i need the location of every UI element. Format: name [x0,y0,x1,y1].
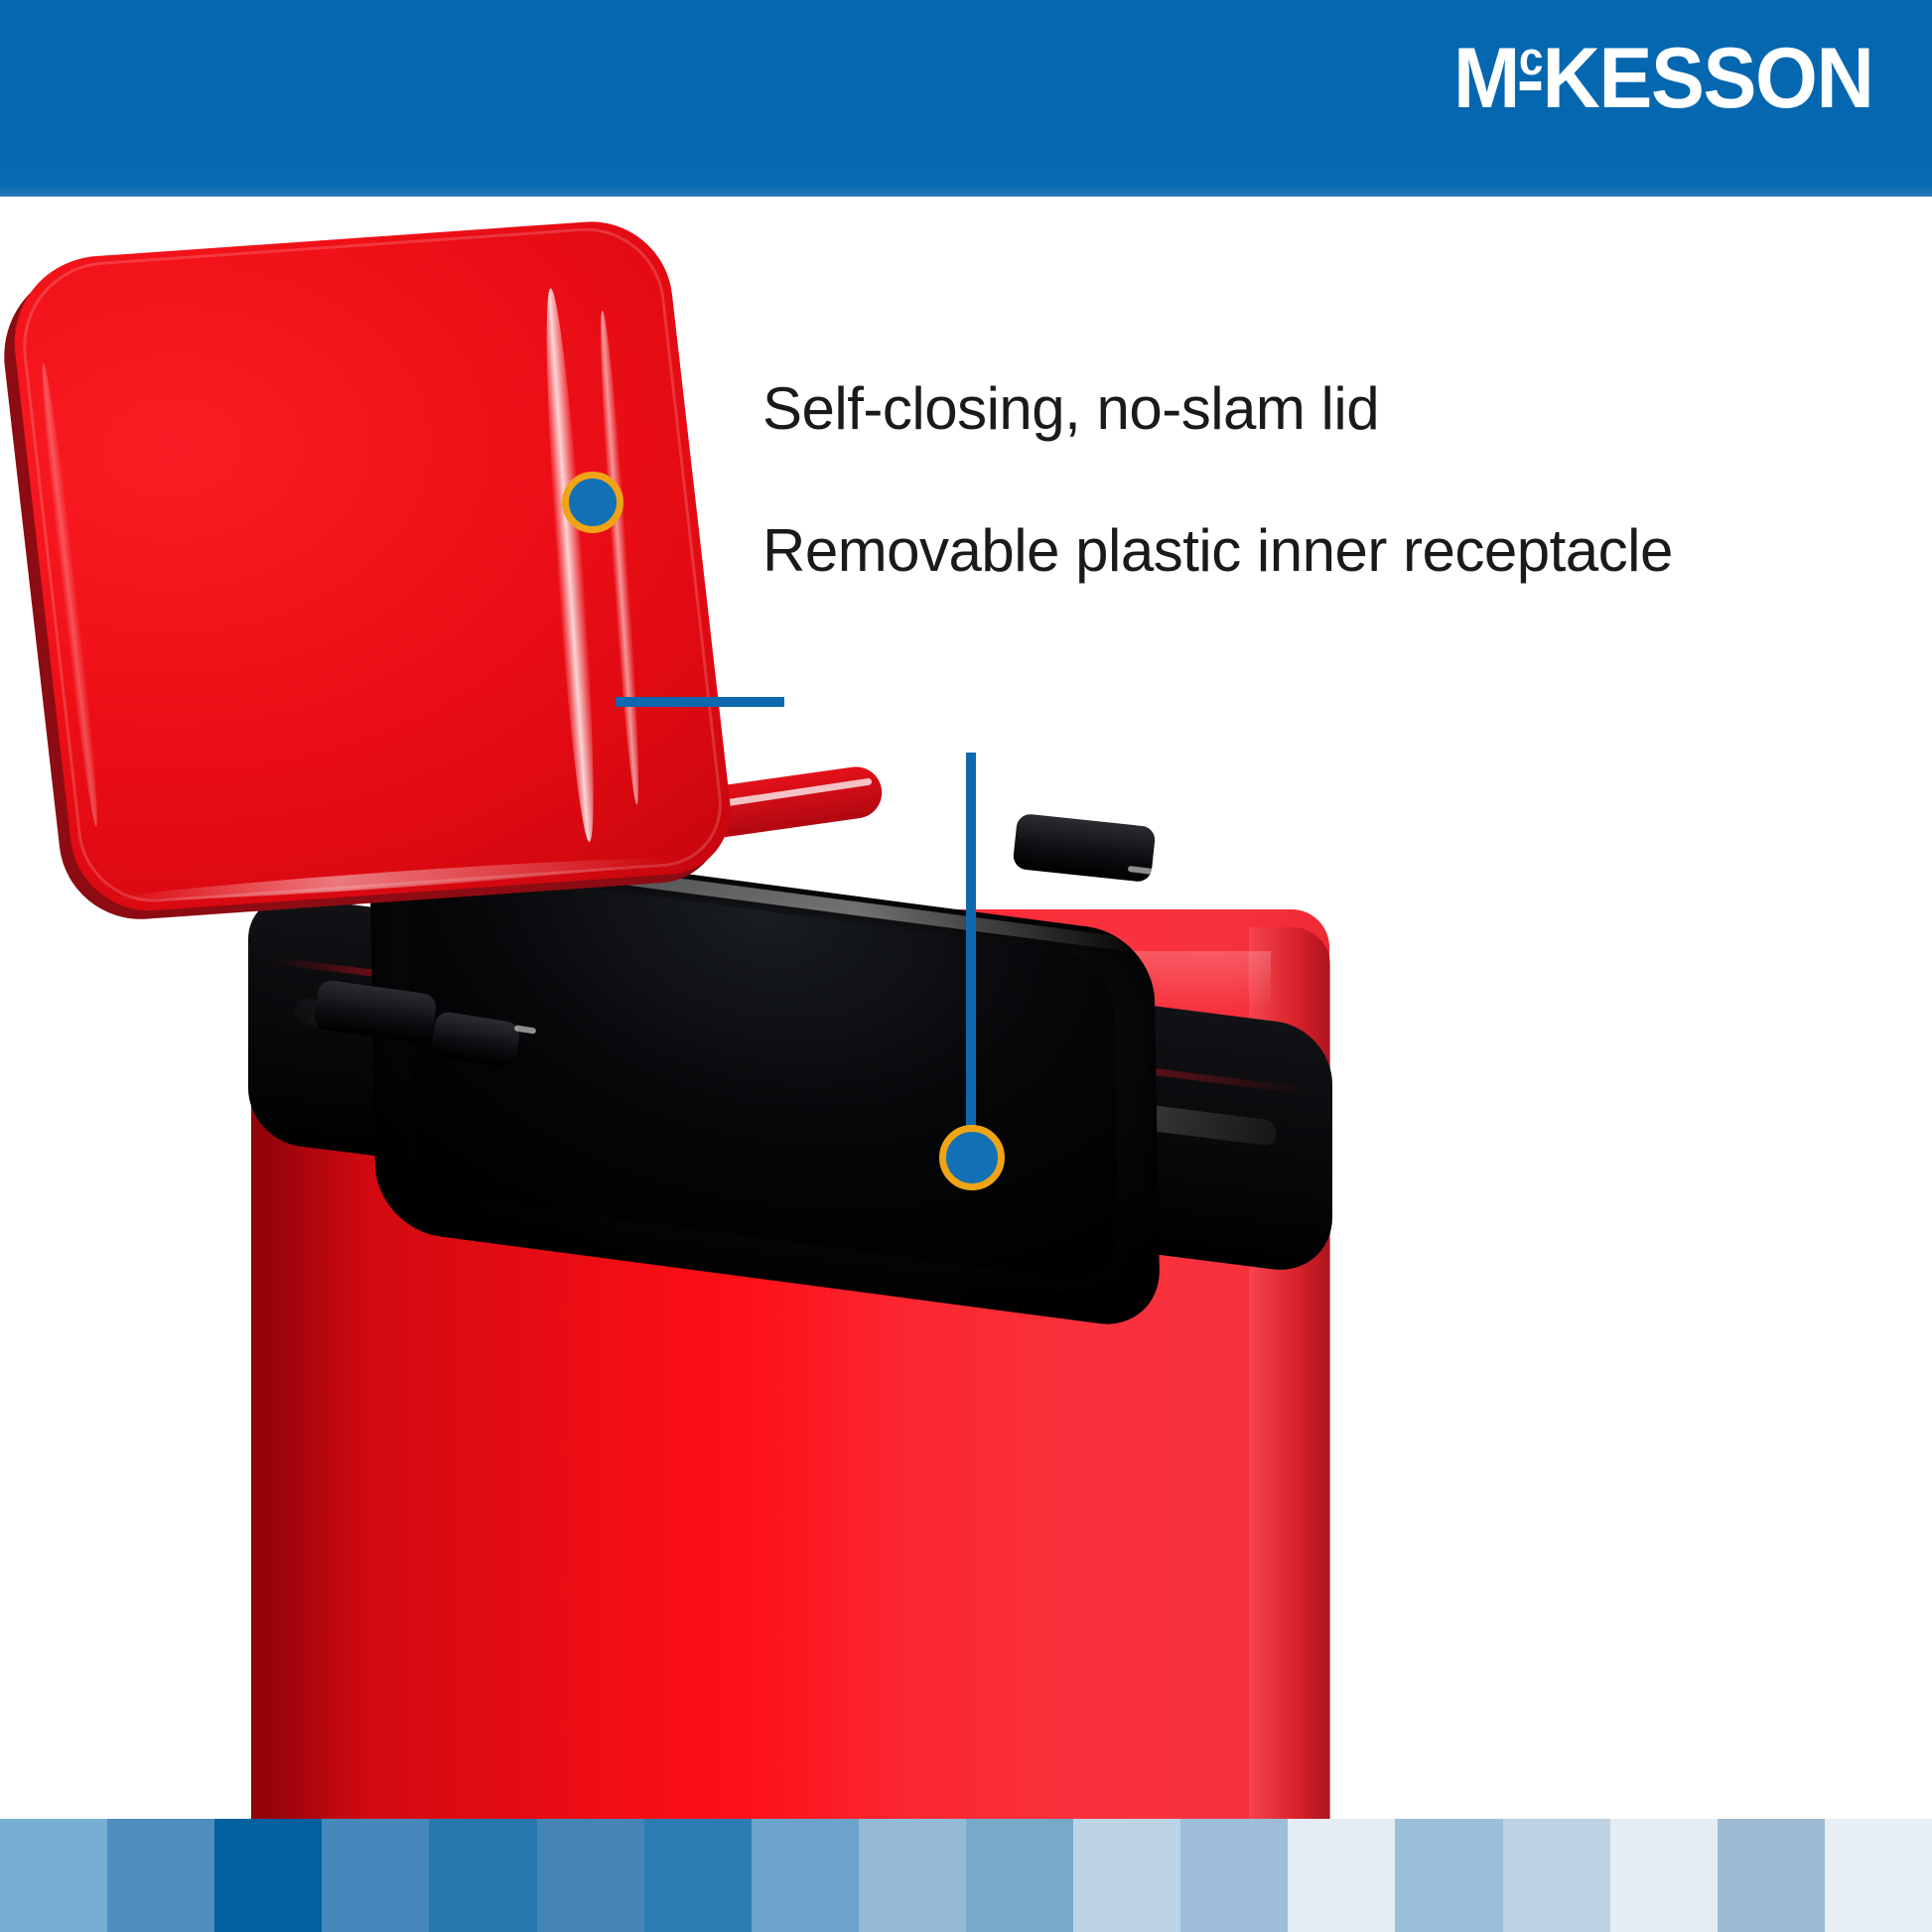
color-swatch-1 [0,1819,107,1932]
mckesson-logo-text: McKESSON [1452,35,1872,121]
color-swatch-12 [1180,1819,1288,1932]
logo-superscript-c: c [1518,35,1542,81]
color-swatch-11 [1073,1819,1180,1932]
color-swatch-2 [107,1819,214,1932]
brand-color-strip [0,1819,1932,1932]
mckesson-logo: McKESSON [1427,24,1872,131]
color-swatch-15 [1503,1819,1610,1932]
color-swatch-4 [322,1819,429,1932]
lid-rim-light [14,223,729,907]
color-swatch-9 [859,1819,966,1932]
color-swatch-10 [966,1819,1073,1932]
callout-label-lid: Self-closing, no-slam lid [762,379,1379,439]
callout-marker-lid[interactable] [562,472,623,533]
color-swatch-3 [214,1819,322,1932]
color-swatch-13 [1288,1819,1395,1932]
logo-word-kesson: KESSON [1542,31,1872,126]
callout-marker-receptacle[interactable] [939,1125,1005,1190]
color-swatch-8 [752,1819,859,1932]
self-closing-lid [0,209,753,929]
callout-leader-line-lid [616,697,784,707]
color-swatch-6 [537,1819,644,1932]
color-swatch-14 [1395,1819,1502,1932]
callout-label-receptacle: Removable plastic inner receptacle [762,521,1673,581]
callout-leader-line-receptacle [966,753,976,1140]
product-feature-image: McKESSON [0,0,1932,1932]
color-swatch-18 [1825,1819,1932,1932]
color-swatch-17 [1718,1819,1825,1932]
color-swatch-16 [1610,1819,1718,1932]
color-swatch-7 [644,1819,752,1932]
brand-header-shadow [0,155,1932,197]
color-swatch-5 [429,1819,536,1932]
product-photograph: Self-closing, no-slam lid Removable plas… [0,197,1932,1819]
logo-letter-m: M [1452,31,1518,126]
